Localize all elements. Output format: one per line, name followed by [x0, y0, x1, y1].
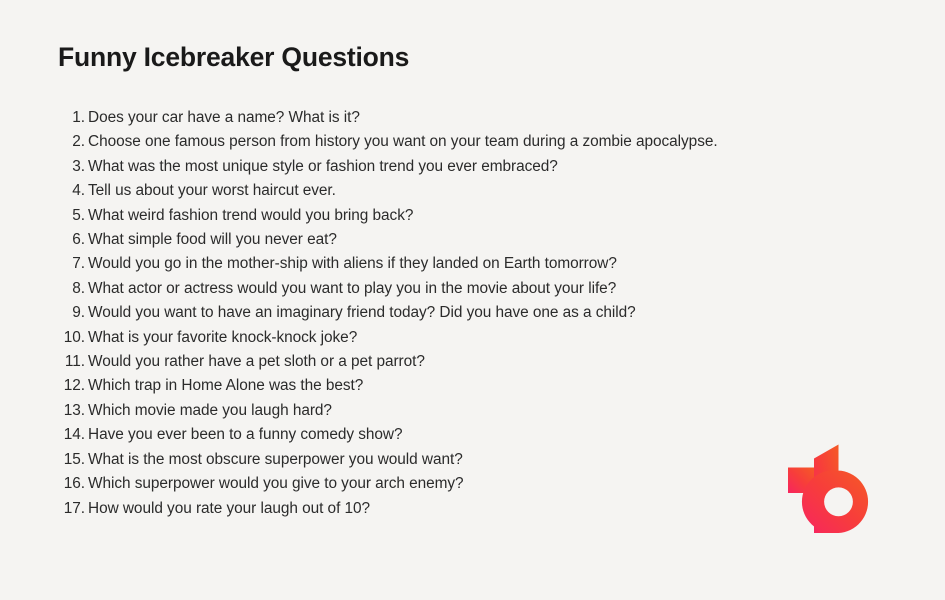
question-item: 1.Does your car have a name? What is it?	[58, 106, 798, 130]
question-item: 11.Would you rather have a pet sloth or …	[58, 350, 798, 374]
question-text: Which movie made you laugh hard?	[88, 399, 798, 423]
question-text: How would you rate your laugh out of 10?	[88, 497, 798, 521]
question-item: 7.Would you go in the mother-ship with a…	[58, 252, 798, 276]
slide-canvas: Funny Icebreaker Questions 1.Does your c…	[0, 0, 945, 600]
question-number: 16.	[58, 472, 88, 496]
question-item: 10.What is your favorite knock-knock jok…	[58, 326, 798, 350]
question-number: 4.	[58, 179, 88, 203]
question-number: 6.	[58, 228, 88, 252]
question-number: 1.	[58, 106, 88, 130]
question-number: 5.	[58, 204, 88, 228]
question-text: What was the most unique style or fashio…	[88, 155, 798, 179]
question-text: Have you ever been to a funny comedy sho…	[88, 423, 798, 447]
page-title: Funny Icebreaker Questions	[58, 42, 409, 72]
question-item: 14.Have you ever been to a funny comedy …	[58, 423, 798, 447]
question-item: 3.What was the most unique style or fash…	[58, 155, 798, 179]
question-number: 17.	[58, 497, 88, 521]
question-item: 17.How would you rate your laugh out of …	[58, 497, 798, 521]
question-number: 9.	[58, 301, 88, 325]
question-number: 3.	[58, 155, 88, 179]
question-item: 16.Which superpower would you give to yo…	[58, 472, 798, 496]
question-number: 8.	[58, 277, 88, 301]
question-text: What simple food will you never eat?	[88, 228, 798, 252]
brand-logo	[786, 425, 894, 533]
question-item: 9.Would you want to have an imaginary fr…	[58, 301, 798, 325]
question-number: 11.	[58, 350, 88, 374]
question-text: Does your car have a name? What is it?	[88, 106, 798, 130]
question-item: 4.Tell us about your worst haircut ever.	[58, 179, 798, 203]
question-text: Would you go in the mother-ship with ali…	[88, 252, 798, 276]
question-text: Would you rather have a pet sloth or a p…	[88, 350, 798, 374]
question-number: 12.	[58, 374, 88, 398]
question-text: Tell us about your worst haircut ever.	[88, 179, 798, 203]
question-item: 5.What weird fashion trend would you bri…	[58, 204, 798, 228]
question-item: 12.Which trap in Home Alone was the best…	[58, 374, 798, 398]
question-text: Would you want to have an imaginary frie…	[88, 301, 798, 325]
question-text: Which superpower would you give to your …	[88, 472, 798, 496]
question-number: 7.	[58, 252, 88, 276]
question-item: 2.Choose one famous person from history …	[58, 130, 798, 154]
question-text: What actor or actress would you want to …	[88, 277, 798, 301]
question-text: Which trap in Home Alone was the best?	[88, 374, 798, 398]
question-text: What is the most obscure superpower you …	[88, 448, 798, 472]
question-number: 14.	[58, 423, 88, 447]
question-list: 1.Does your car have a name? What is it?…	[58, 106, 798, 521]
question-text: Choose one famous person from history yo…	[88, 130, 798, 154]
question-number: 10.	[58, 326, 88, 350]
question-item: 8.What actor or actress would you want t…	[58, 277, 798, 301]
question-number: 15.	[58, 448, 88, 472]
question-number: 2.	[58, 130, 88, 154]
question-item: 6.What simple food will you never eat?	[58, 228, 798, 252]
question-text: What weird fashion trend would you bring…	[88, 204, 798, 228]
question-item: 13.Which movie made you laugh hard?	[58, 399, 798, 423]
question-text: What is your favorite knock-knock joke?	[88, 326, 798, 350]
question-number: 13.	[58, 399, 88, 423]
question-item: 15.What is the most obscure superpower y…	[58, 448, 798, 472]
